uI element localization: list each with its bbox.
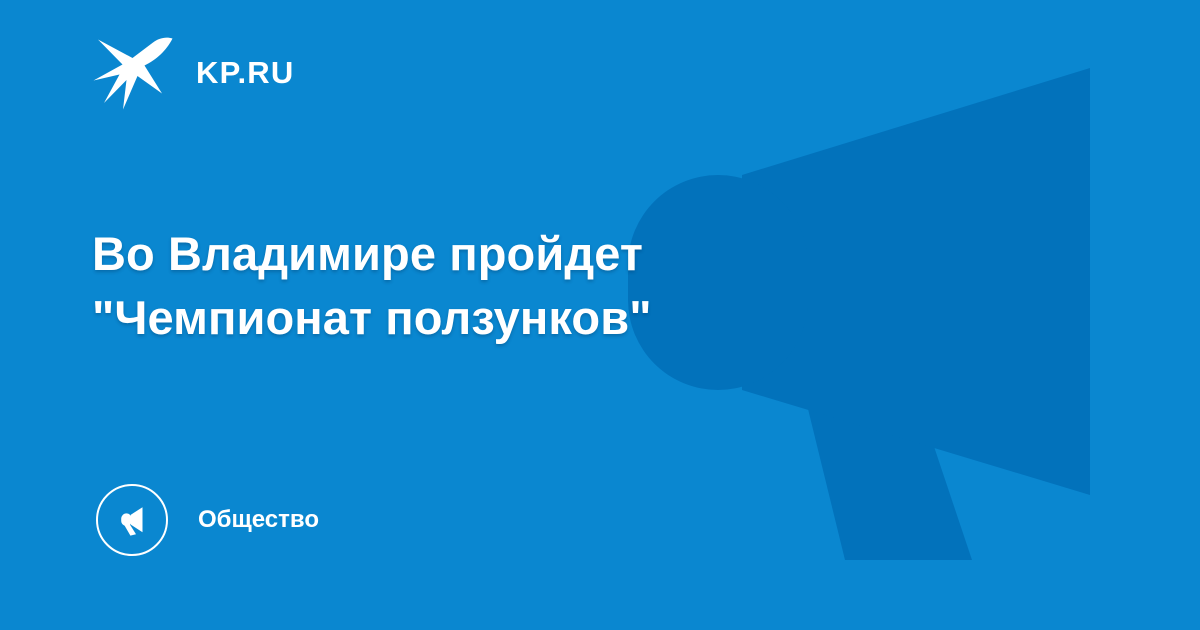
page-title: Во Владимире пройдет "Чемпионат ползунко…	[92, 222, 852, 350]
category-label: Общество	[198, 508, 319, 532]
brand-logo[interactable]: KP.RU	[92, 32, 294, 112]
brand-name: KP.RU	[196, 57, 294, 88]
social-share-card: KP.RU Во Владимире пройдет "Чемпионат по…	[0, 0, 1200, 630]
megaphone-icon-circle	[96, 484, 168, 556]
megaphone-icon	[112, 500, 152, 540]
swallow-bird-icon	[92, 33, 174, 111]
category-badge[interactable]: Общество	[96, 484, 319, 556]
